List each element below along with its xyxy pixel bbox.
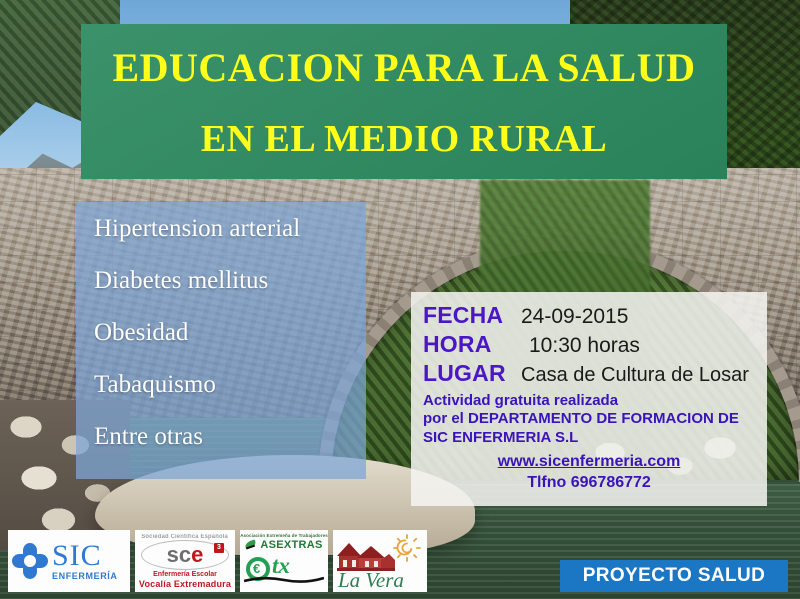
sun-icon (393, 534, 421, 562)
asextras-tagline: Asociación Extremeña de Trabajadores (240, 533, 328, 538)
sce-arc-text: Sociedad Científica Española (142, 534, 229, 540)
topic-item: Entre otras (94, 424, 366, 449)
swoosh-icon (244, 575, 324, 584)
info-row-fecha: FECHA 24-09-2015 (423, 302, 755, 329)
poster-root: EDUCACION PARA LA SALUD EN EL MEDIO RURA… (0, 0, 800, 599)
hora-value: 10:30 horas (521, 334, 640, 358)
topic-item: Obesidad (94, 320, 366, 345)
topic-item: Diabetes mellitus (94, 268, 366, 293)
sce-oval-icon: sce 3 (141, 540, 229, 570)
website-link[interactable]: www.sicenfermeria.com (423, 453, 755, 471)
title-banner: EDUCACION PARA LA SALUD EN EL MEDIO RURA… (81, 24, 727, 179)
title-line-1: EDUCACION PARA LA SALUD (112, 47, 695, 89)
sce-wordmark: sce (167, 544, 204, 566)
info-row-hora: HORA 10:30 horas (423, 331, 755, 358)
organizer-note-line-2: por el DEPARTAMENTO DE FORMACION DE (423, 410, 755, 428)
proyecto-salud-banner: PROYECTO SALUD (560, 560, 788, 592)
fecha-label: FECHA (423, 302, 521, 329)
sce-superscript: 3 (214, 543, 224, 553)
topic-item: Hipertension arterial (94, 216, 366, 241)
logo-strip: SIC ENFERMERÍA Sociedad Científica Españ… (8, 530, 427, 592)
fecha-value: 24-09-2015 (521, 305, 628, 329)
la-vera-wordmark: La Vera (338, 570, 404, 591)
topic-item: Tabaquismo (94, 372, 366, 397)
sic-cross-icon (12, 543, 48, 579)
organizer-note: Actividad gratuita realizada por el DEPA… (423, 392, 755, 447)
asextras-wordmark: ASEXTRAS (260, 539, 322, 551)
village-houses-icon (337, 535, 395, 571)
logo-asextras: Asociación Extremeña de Trabajadores ASE… (240, 530, 328, 592)
sce-mid-text: Enfermería Escolar (153, 571, 217, 578)
topics-panel: Hipertension arterial Diabetes mellitus … (76, 202, 366, 479)
title-line-2: EN EL MEDIO RURAL (201, 120, 608, 160)
lugar-value: Casa de Cultura de Losar (521, 364, 749, 387)
event-info-panel: FECHA 24-09-2015 HORA 10:30 horas LUGAR … (411, 292, 767, 506)
organizer-note-line-1: Actividad gratuita realizada (423, 392, 755, 410)
organizer-note-line-3: SIC ENFERMERIA S.L (423, 429, 755, 447)
sic-wordmark: SIC (52, 541, 118, 571)
logo-la-vera: La Vera (333, 530, 427, 592)
logo-sic-enfermeria: SIC ENFERMERÍA (8, 530, 130, 592)
lugar-label: LUGAR (423, 360, 521, 387)
sic-subtitle: ENFERMERÍA (52, 572, 118, 581)
info-row-lugar: LUGAR Casa de Cultura de Losar (423, 360, 755, 387)
asextras-at-mark-icon: € tx (244, 554, 324, 584)
phone-number: Tlfno 696786772 (423, 474, 755, 492)
leaf-icon (245, 539, 257, 551)
sce-bottom-text: Vocalía Extremadura (139, 579, 231, 589)
hora-label: HORA (423, 331, 521, 358)
logo-sce: Sociedad Científica Española sce 3 Enfer… (135, 530, 235, 592)
